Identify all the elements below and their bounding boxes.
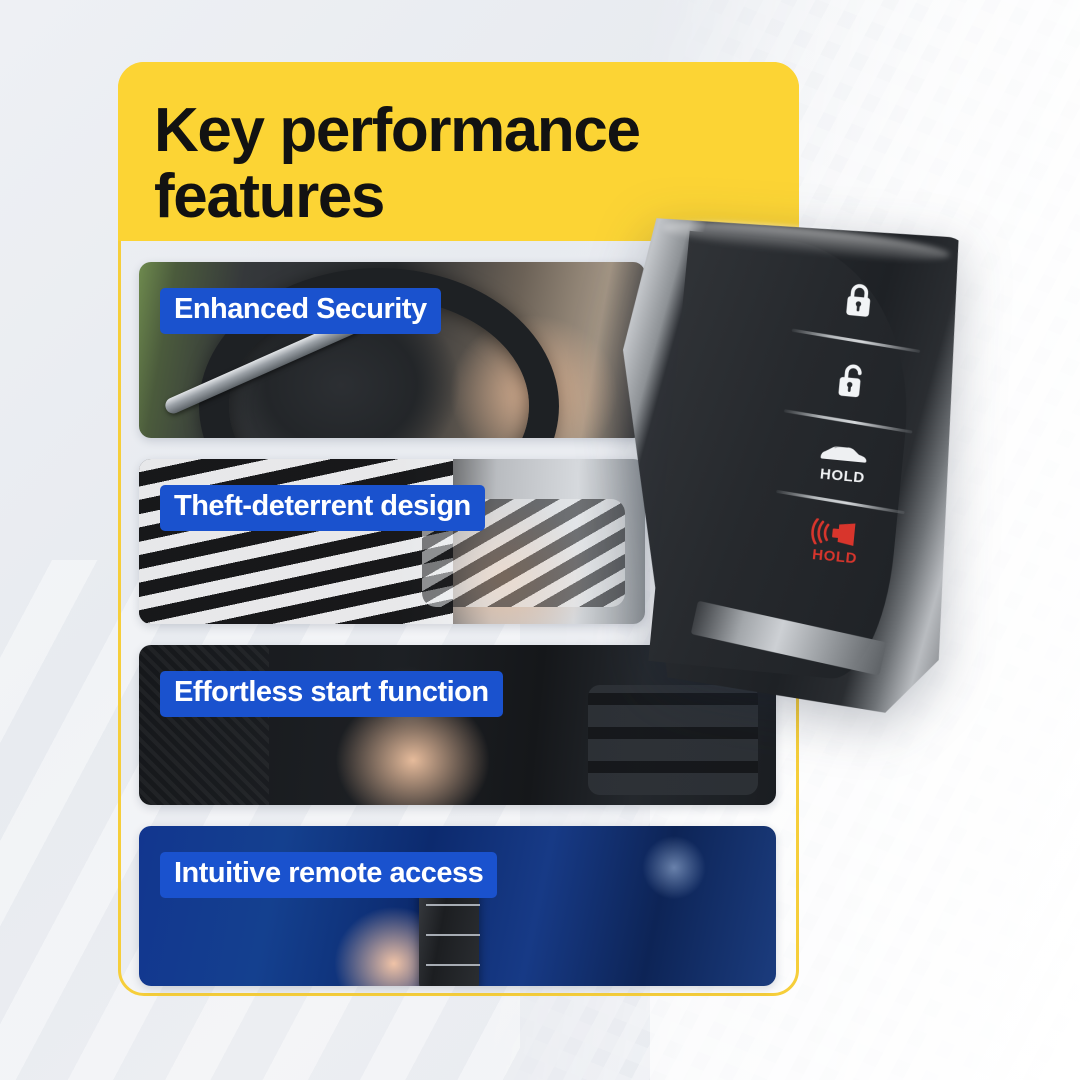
key-fob-panic-hold-label: HOLD [812, 547, 858, 566]
lock-icon [841, 280, 878, 321]
feature-card-theft-deterrent-design[interactable]: Theft-deterrent design [139, 459, 645, 624]
key-fob-panic-alarm-button[interactable]: HOLD [754, 501, 918, 584]
feature-label-badge: Intuitive remote access [160, 852, 497, 898]
key-fob-trunk-hold-label: HOLD [819, 467, 865, 486]
page-title-line-1: Key performance [154, 96, 640, 165]
feature-card-intuitive-remote-access[interactable]: Intuitive remote access [139, 826, 776, 986]
feature-image-hand-holding-key-fob [139, 826, 776, 986]
feature-label-badge: Theft-deterrent design [160, 485, 485, 531]
page-title-line-2: features [154, 162, 384, 231]
feature-label-badge: Effortless start function [160, 671, 503, 717]
panic-alarm-icon [810, 518, 864, 549]
feature-card-enhanced-security[interactable]: Enhanced Security [139, 262, 645, 438]
product-key-fob: HOLD HOLD [591, 207, 979, 718]
feature-image-person-with-key [139, 459, 645, 624]
trunk-car-icon [817, 438, 871, 469]
feature-label-badge: Enhanced Security [160, 288, 441, 334]
unlock-icon [833, 361, 870, 402]
